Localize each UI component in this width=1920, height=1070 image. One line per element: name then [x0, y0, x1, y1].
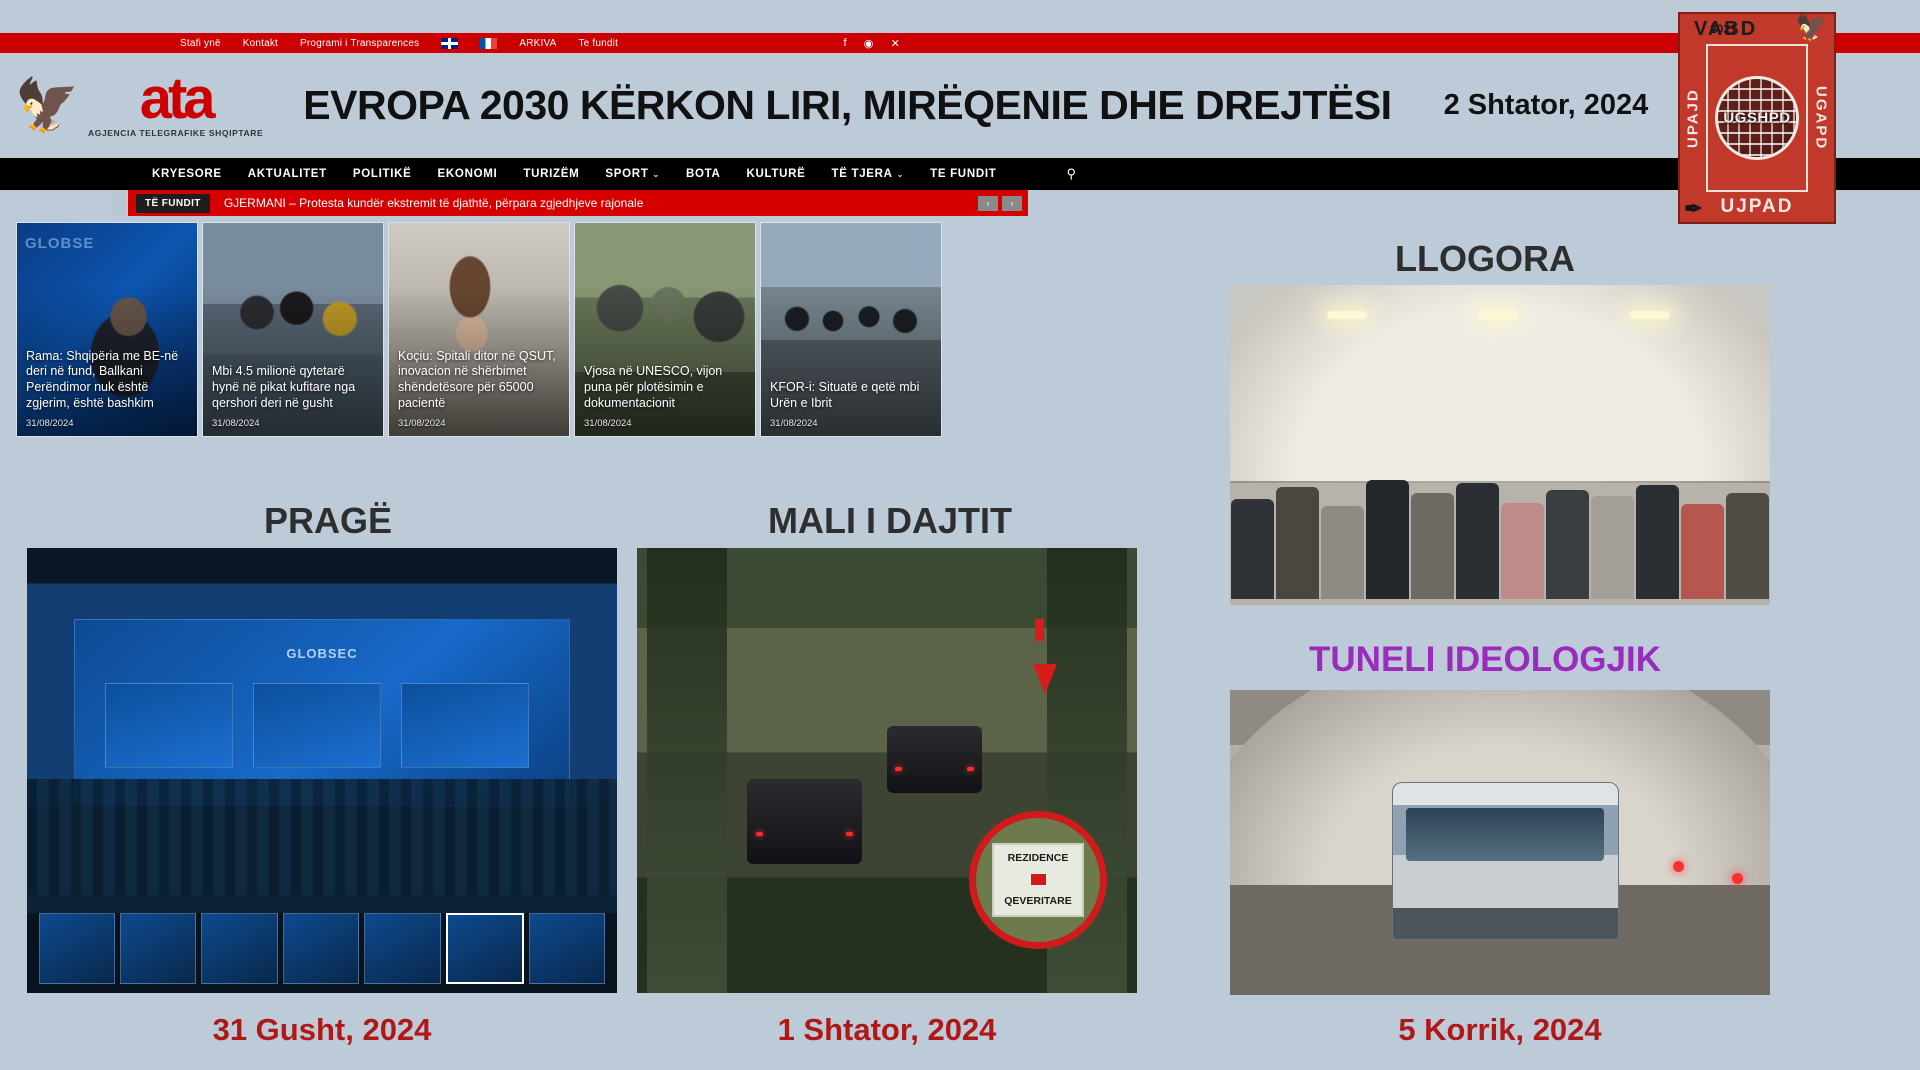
- caption-date-left: 31 Gusht, 2024: [27, 1012, 617, 1048]
- tree-foliage: [647, 548, 727, 993]
- nav-item-te-fundit[interactable]: TE FUNDIT: [930, 168, 996, 180]
- red-light: [1673, 861, 1684, 872]
- news-card[interactable]: KFOR-i: Situatë e qetë mbi Urën e Ibrit …: [760, 222, 942, 437]
- badge-center-emblem: 2021 UGSHPD: [1706, 44, 1808, 192]
- news-card[interactable]: Mbi 4.5 milionë qytetarë hynë në pikat k…: [202, 222, 384, 437]
- badge-right-label: UGAPD: [1808, 44, 1834, 192]
- tunnel-lamp: [1327, 311, 1367, 319]
- navbar-right-filler: [1836, 158, 1920, 190]
- nav-label: KRYESORE: [152, 168, 222, 180]
- person-silhouette: [1546, 490, 1589, 599]
- section-title-tuneli-ideologjik: TUNELI IDEOLOGJIK: [1225, 640, 1745, 680]
- news-card-title: Koçiu: Spitali ditor në QSUT, inovacion …: [398, 349, 561, 413]
- ticker-next-button[interactable]: ›: [1002, 196, 1022, 211]
- crowd-of-people: [1230, 439, 1770, 599]
- association-badge: VABD 🦅 UPAJD 2021 UGSHPD UGAPD ✒ UJPAD: [1678, 12, 1836, 224]
- nav-label: EKONOMI: [438, 168, 498, 180]
- x-twitter-icon[interactable]: ✕: [891, 37, 900, 50]
- person-silhouette: [1411, 493, 1454, 599]
- instagram-icon[interactable]: ◉: [864, 37, 874, 50]
- logo-subtitle: AGJENCIA TELEGRAFIKE SHQIPTARE: [88, 128, 263, 138]
- photo-tuneli-ideologjik-bus: [1230, 690, 1770, 995]
- flag-uk-icon[interactable]: [441, 38, 458, 49]
- nav-label: KULTURË: [746, 168, 805, 180]
- site-logo[interactable]: ata AGJENCIA TELEGRAFIKE SHQIPTARE: [88, 73, 263, 138]
- nav-item-aktualitet[interactable]: AKTUALITET: [248, 168, 327, 180]
- ticker-left-gap: [112, 190, 126, 216]
- news-card[interactable]: Vjosa në UNESCO, vijon puna për plotësim…: [574, 222, 756, 437]
- news-card-title: Rama: Shqipëria me BE-në deri në fund, B…: [26, 349, 189, 413]
- nav-item-kryesore[interactable]: KRYESORE: [152, 168, 222, 180]
- caption-date-middle: 1 Shtator, 2024: [637, 1012, 1137, 1048]
- thumbnail-item[interactable]: [39, 913, 115, 984]
- suv-vehicle: [747, 779, 862, 864]
- nav-label: SPORT: [605, 168, 648, 180]
- globe-icon: UGSHPD: [1715, 76, 1799, 160]
- news-card-date: 31/08/2024: [398, 418, 446, 429]
- albanian-eagle-icon: 🦅: [18, 75, 76, 137]
- nav-label: POLITIKË: [353, 168, 412, 180]
- person-silhouette: [1501, 503, 1544, 599]
- news-card-date: 31/08/2024: [212, 418, 260, 429]
- tail-light: [756, 832, 763, 836]
- stage-screen-panel: [401, 683, 529, 768]
- conference-stage: GLOBSEC: [74, 619, 570, 806]
- thumbnail-item[interactable]: [283, 913, 359, 984]
- ticker-prev-button[interactable]: ‹: [978, 196, 998, 211]
- chevron-down-icon: ⌄: [653, 170, 660, 179]
- highlight-circle-annotation: REZIDENCE QEVERITARE: [969, 811, 1107, 949]
- badge-bottom-text: UJPAD: [1721, 196, 1794, 218]
- news-card-date: 31/08/2024: [584, 418, 632, 429]
- facebook-icon[interactable]: f: [844, 37, 847, 50]
- logo-wordmark: ata: [140, 73, 212, 125]
- badge-left-label: UPAJD: [1680, 44, 1706, 192]
- photo-thumbnail-strip[interactable]: [39, 913, 605, 984]
- news-card-title: Mbi 4.5 milionë qytetarë hynë në pikat k…: [212, 364, 375, 412]
- person-silhouette: [1366, 480, 1409, 598]
- nav-item-te-tjera[interactable]: TË TJERA⌄: [831, 168, 904, 180]
- nav-item-sport[interactable]: SPORT⌄: [605, 168, 660, 180]
- bus-vehicle: [1392, 782, 1619, 941]
- topbar-link-latest[interactable]: Te fundit: [578, 38, 618, 49]
- stage-screen-panel: [105, 683, 233, 768]
- nav-item-turizem[interactable]: TURIZËM: [523, 168, 579, 180]
- page-title: EVROPA 2030 KËRKON LIRI, MIRËQENIE DHE D…: [303, 82, 1391, 129]
- person-silhouette: [1321, 506, 1364, 599]
- chevron-down-icon: ⌄: [897, 170, 904, 179]
- tail-light: [967, 767, 974, 771]
- breaking-news-ticker: TË FUNDIT GJERMANI – Protesta kundër eks…: [128, 190, 1028, 216]
- bus-windshield: [1406, 808, 1604, 861]
- red-arrow-stem: [1035, 619, 1044, 641]
- ticker-headline[interactable]: GJERMANI – Protesta kundër ekstremit të …: [224, 196, 644, 210]
- red-light: [1732, 873, 1743, 884]
- eagle-icon: 🦅: [1796, 12, 1830, 43]
- stage-screen-panel: [253, 683, 381, 768]
- photo-prage-conference: GLOBSEC: [27, 548, 617, 993]
- caption-date-right: 5 Korrik, 2024: [1230, 1012, 1770, 1048]
- person-silhouette: [1231, 499, 1274, 598]
- suv-vehicle: [887, 726, 982, 793]
- nav-item-kulture[interactable]: KULTURË: [746, 168, 805, 180]
- flag-france-icon[interactable]: [480, 38, 497, 49]
- badge-top-label: VABD 🦅: [1680, 14, 1834, 44]
- search-icon[interactable]: ⚲: [1066, 166, 1076, 182]
- main-navigation: KRYESORE AKTUALITET POLITIKË EKONOMI TUR…: [0, 158, 1920, 190]
- news-card[interactable]: Koçiu: Spitali ditor në QSUT, inovacion …: [388, 222, 570, 437]
- topbar-link-archive[interactable]: ARKIVA: [519, 38, 556, 49]
- thumbnail-item-selected[interactable]: [446, 913, 524, 984]
- government-residence-sign: REZIDENCE QEVERITARE: [992, 843, 1084, 917]
- badge-right-text: UGAPD: [1813, 86, 1830, 150]
- red-arrow-icon: [1033, 664, 1057, 694]
- topbar-link-staff[interactable]: Stafi ynë: [180, 38, 221, 49]
- sign-line-1: REZIDENCE: [1008, 852, 1069, 864]
- photo-llogora-tunnel: [1230, 285, 1770, 605]
- nav-item-politike[interactable]: POLITIKË: [353, 168, 412, 180]
- tail-light: [846, 832, 853, 836]
- sign-line-2: QEVERITARE: [1004, 895, 1071, 907]
- nav-item-ekonomi[interactable]: EKONOMI: [438, 168, 498, 180]
- person-silhouette: [1456, 483, 1499, 598]
- nav-label: TË TJERA: [831, 168, 892, 180]
- nav-label: BOTA: [686, 168, 721, 180]
- thumbnail-item[interactable]: [364, 913, 440, 984]
- badge-center-text: UGSHPD: [1723, 110, 1790, 127]
- section-title-mali-i-dajtit: MALI I DAJTIT: [640, 500, 1140, 542]
- ticker-badge: TË FUNDIT: [136, 194, 210, 213]
- section-title-prage: PRAGË: [28, 500, 628, 542]
- masthead: 🦅 ata AGJENCIA TELEGRAFIKE SHQIPTARE EVR…: [0, 53, 1920, 158]
- badge-bottom-label: ✒ UJPAD: [1680, 192, 1834, 222]
- masthead-date: 2 Shtator, 2024: [1444, 89, 1649, 122]
- nav-label: TURIZËM: [523, 168, 579, 180]
- nav-label: TE FUNDIT: [930, 168, 996, 180]
- topbar-link-transparency[interactable]: Programi i Transparences: [300, 38, 419, 49]
- fountain-pen-icon: ✒: [1684, 196, 1704, 222]
- news-carousel: Rama: Shqipëria me BE-në deri në fund, B…: [16, 222, 942, 437]
- person-silhouette: [1276, 487, 1319, 599]
- thumbnail-item[interactable]: [120, 913, 196, 984]
- news-card-date: 31/08/2024: [26, 418, 74, 429]
- badge-year: 2021: [1710, 22, 1737, 36]
- nav-item-bota[interactable]: BOTA: [686, 168, 721, 180]
- topbar-link-contact[interactable]: Kontakt: [243, 38, 278, 49]
- person-silhouette: [1591, 496, 1634, 598]
- person-silhouette: [1636, 485, 1679, 599]
- thumbnail-item[interactable]: [201, 913, 277, 984]
- tunnel-lamp: [1630, 311, 1670, 319]
- tunnel-lamp: [1478, 311, 1518, 319]
- section-title-llogora: LLOGORA: [1225, 238, 1745, 280]
- albanian-flag-icon: [1031, 874, 1046, 885]
- person-silhouette: [1681, 504, 1724, 598]
- news-card-title: Vjosa në UNESCO, vijon puna për plotësim…: [584, 364, 747, 412]
- badge-left-text: UPAJD: [1685, 88, 1702, 148]
- news-card-title: KFOR-i: Situatë e qetë mbi Urën e Ibrit: [770, 380, 933, 412]
- person-silhouette: [1726, 493, 1769, 599]
- globsec-logo-text: GLOBSEC: [286, 646, 357, 661]
- thumbnail-item[interactable]: [529, 913, 605, 984]
- topbar: Stafi ynë Kontakt Programi i Transparenc…: [0, 33, 1920, 53]
- nav-label: AKTUALITET: [248, 168, 327, 180]
- tail-light: [895, 767, 902, 771]
- audience-crowd: [27, 779, 617, 895]
- photo-mali-i-dajtit-road: REZIDENCE QEVERITARE: [637, 548, 1137, 993]
- news-card[interactable]: Rama: Shqipëria me BE-në deri në fund, B…: [16, 222, 198, 437]
- news-card-date: 31/08/2024: [770, 418, 818, 429]
